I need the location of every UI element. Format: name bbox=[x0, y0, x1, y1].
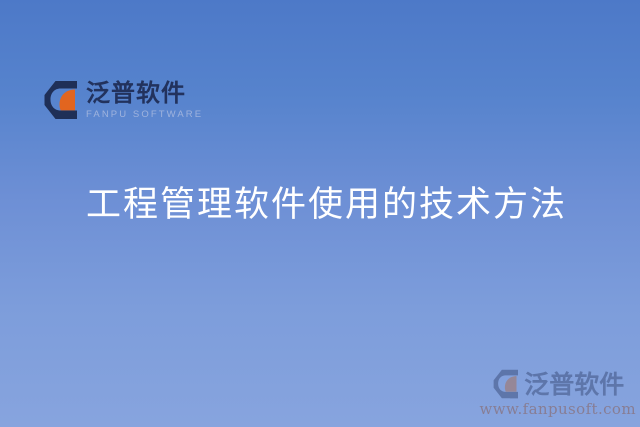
watermark-name-cn: 泛普软件 bbox=[524, 372, 624, 397]
brand-logo: 泛普软件 FANPU SOFTWARE bbox=[44, 80, 203, 120]
fanpu-logo-icon bbox=[44, 80, 78, 120]
presentation-slide: 泛普软件 FANPU SOFTWARE 工程管理软件使用的技术方法 泛普软件 w… bbox=[0, 0, 640, 427]
watermark-url: www.fanpusoft.com bbox=[480, 400, 636, 418]
watermark: 泛普软件 www.fanpusoft.com bbox=[480, 369, 636, 418]
page-title: 工程管理软件使用的技术方法 bbox=[86, 184, 567, 228]
fanpu-logo-icon bbox=[491, 369, 521, 399]
brand-wordmark: 泛普软件 FANPU SOFTWARE bbox=[86, 81, 203, 120]
watermark-logo-row: 泛普软件 bbox=[491, 369, 624, 399]
brand-name-en: FANPU SOFTWARE bbox=[86, 110, 203, 120]
brand-name-cn: 泛普软件 bbox=[86, 81, 203, 106]
